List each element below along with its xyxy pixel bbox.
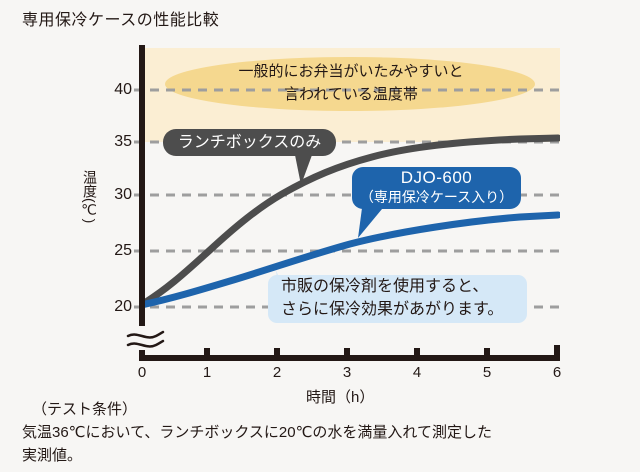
x-tick-label-5: 5 <box>477 364 497 381</box>
y-tick-label-30: 30 <box>98 186 132 204</box>
x-tick-marks <box>204 345 560 356</box>
callout-coolant-line2: さらに保冷効果があがります。 <box>281 298 527 321</box>
x-tick-label-2: 2 <box>267 364 287 381</box>
callout-coolant-note: 市販の保冷剤を使用すると、 さらに保冷効果があがります。 <box>268 275 527 323</box>
callout-djo600-line2: （専用保冷ケース入り） <box>352 188 521 207</box>
callout-coolant-line1: 市販の保冷剤を使用すると、 <box>281 275 527 298</box>
y-axis-line <box>139 45 145 361</box>
y-tick-label-25: 25 <box>98 242 132 260</box>
chart-page: 専用保冷ケースの性能比較 <box>0 0 640 472</box>
x-tick-label-6: 6 <box>547 364 567 381</box>
y-axis-title: 温度(℃) <box>78 170 98 223</box>
danger-band-label: 一般的にお弁当がいたみやすいと 言われている温度帯 <box>168 60 534 106</box>
x-tick-label-3: 3 <box>337 364 357 381</box>
footnote-line2: 実測値。 <box>22 444 622 467</box>
y-tick-label-35: 35 <box>98 133 132 151</box>
x-tick-label-1: 1 <box>197 364 217 381</box>
footnote-line1: 気温36℃において、ランチボックスに20℃の水を満量入れて測定した <box>22 421 622 444</box>
callout-lunchbox-only: ランチボックスのみ <box>163 129 336 156</box>
danger-band-label-line1: 一般的にお弁当がいたみやすいと <box>168 60 534 83</box>
danger-band-label-line2: 言われている温度帯 <box>168 83 534 106</box>
axis-break-mark <box>128 326 163 350</box>
x-tick-label-0: 0 <box>132 364 152 381</box>
y-tick-label-40: 40 <box>98 81 132 99</box>
footnote-condition-header: （テスト条件） <box>22 398 622 421</box>
callout-djo600-line1: DJO-600 <box>352 167 521 188</box>
y-tick-label-20: 20 <box>98 298 132 316</box>
callout-djo600: DJO-600 （専用保冷ケース入り） <box>352 167 521 209</box>
x-tick-label-4: 4 <box>407 364 427 381</box>
footnote: （テスト条件） 気温36℃において、ランチボックスに20℃の水を満量入れて測定し… <box>22 398 622 467</box>
callout-tail-djo600 <box>358 208 382 238</box>
